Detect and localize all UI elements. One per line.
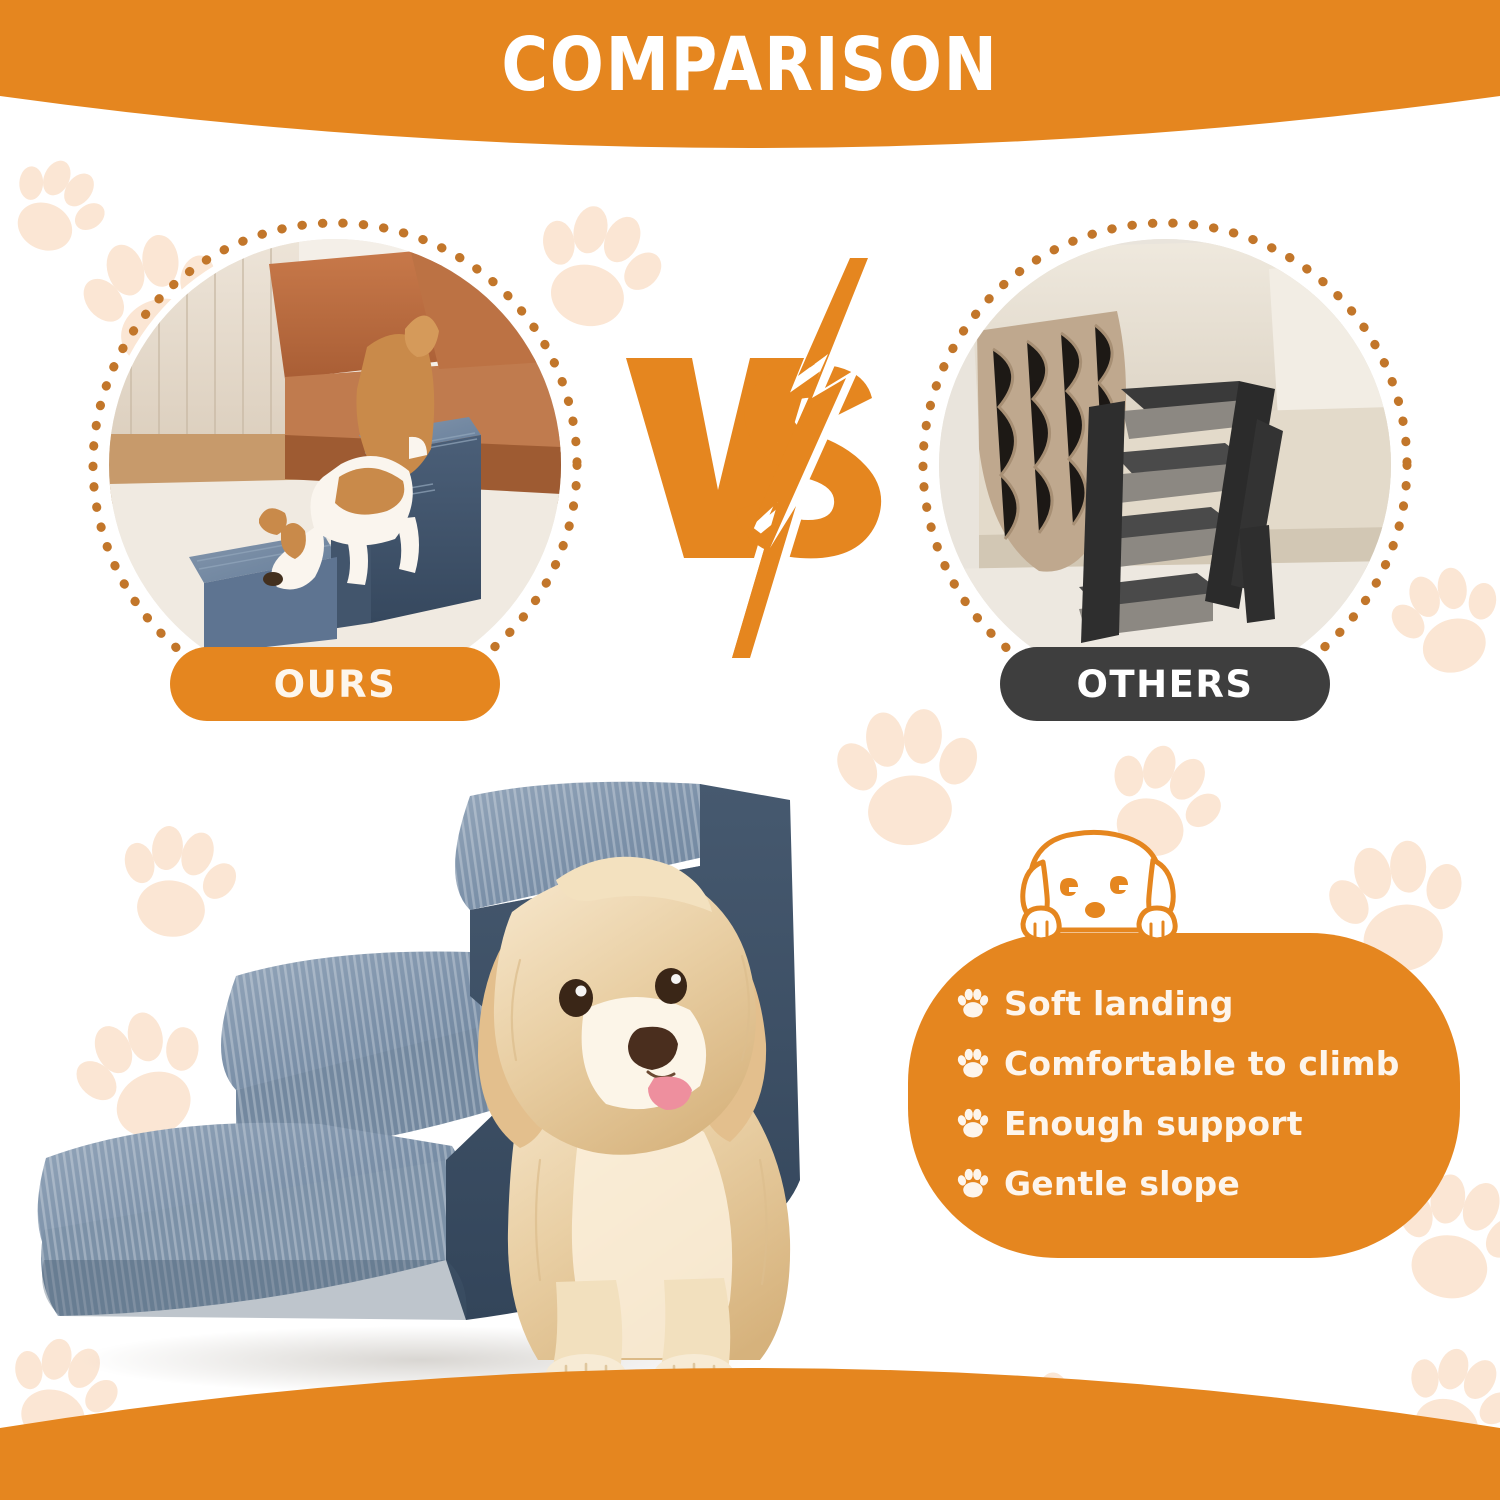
paw-icon — [956, 1046, 990, 1080]
feature-label: Gentle slope — [1004, 1164, 1240, 1203]
badge-ours: OURS — [170, 647, 500, 721]
comparison-card-ours[interactable]: OURS — [85, 215, 585, 715]
peeking-dog-icon — [1003, 826, 1193, 961]
features-panel: Soft landing Comfortable to climb — [908, 933, 1460, 1258]
footer-banner — [0, 1340, 1500, 1500]
page-title: COMPARISON — [105, 0, 1395, 130]
feature-label: Comfortable to climb — [1004, 1044, 1400, 1083]
others-photo — [939, 239, 1391, 691]
versus-lightning-icon — [600, 258, 900, 658]
ours-photo — [109, 239, 561, 691]
paw-icon — [956, 986, 990, 1020]
infographic-canvas: COMPARISON — [0, 0, 1500, 1500]
paw-icon — [956, 1166, 990, 1200]
feature-item: Comfortable to climb — [956, 1035, 1460, 1091]
hero-product-photo — [0, 760, 960, 1400]
feature-label: Enough support — [1004, 1104, 1303, 1143]
paw-icon — [956, 1106, 990, 1140]
feature-item: Soft landing — [956, 975, 1460, 1031]
feature-item: Enough support — [956, 1095, 1460, 1151]
feature-label: Soft landing — [1004, 984, 1234, 1023]
feature-item: Gentle slope — [956, 1155, 1460, 1211]
comparison-card-others[interactable]: OTHERS — [915, 215, 1415, 715]
badge-others: OTHERS — [1000, 647, 1330, 721]
feature-list: Soft landing Comfortable to climb — [908, 975, 1460, 1211]
